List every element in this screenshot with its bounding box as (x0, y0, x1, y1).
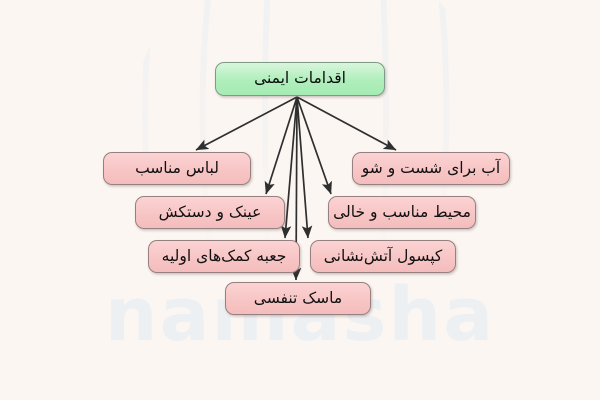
node-leaf-5[interactable]: جعبه کمک‌های اولیه (148, 240, 300, 273)
node-leaf-7[interactable]: ماسک تنفسی (225, 282, 371, 315)
node-leaf-4-label: محیط مناسب و خالی (329, 205, 475, 221)
node-root[interactable]: اقدامات ایمنی (215, 62, 385, 96)
edge-root-to-leaf-5 (285, 97, 297, 238)
node-root-label: اقدامات ایمنی (250, 71, 350, 87)
node-leaf-3[interactable]: عینک و دستکش (135, 196, 285, 229)
node-leaf-4[interactable]: محیط مناسب و خالی (328, 196, 476, 229)
edge-root-to-leaf-2 (297, 97, 396, 150)
diagram-canvas: namasha اقدامات ایمنی (0, 0, 600, 400)
edge-root-to-leaf-3 (266, 97, 297, 194)
node-leaf-6-label: کپسول آتش‌نشانی (320, 249, 447, 265)
node-leaf-7-label: ماسک تنفسی (250, 291, 346, 307)
node-leaf-2[interactable]: آب برای شست و شو (352, 152, 510, 185)
node-leaf-2-label: آب برای شست و شو (358, 161, 504, 177)
node-leaf-1[interactable]: لباس مناسب (103, 152, 251, 185)
node-leaf-1-label: لباس مناسب (131, 161, 223, 177)
edge-root-to-leaf-4 (297, 97, 331, 194)
edge-root-to-leaf-1 (196, 97, 297, 150)
node-leaf-6[interactable]: کپسول آتش‌نشانی (310, 240, 456, 273)
edge-root-to-leaf-6 (297, 97, 308, 238)
node-leaf-3-label: عینک و دستکش (155, 205, 266, 221)
node-leaf-5-label: جعبه کمک‌های اولیه (158, 249, 291, 265)
connector-edges (0, 0, 600, 400)
background-watermark-layer: namasha (0, 0, 600, 400)
